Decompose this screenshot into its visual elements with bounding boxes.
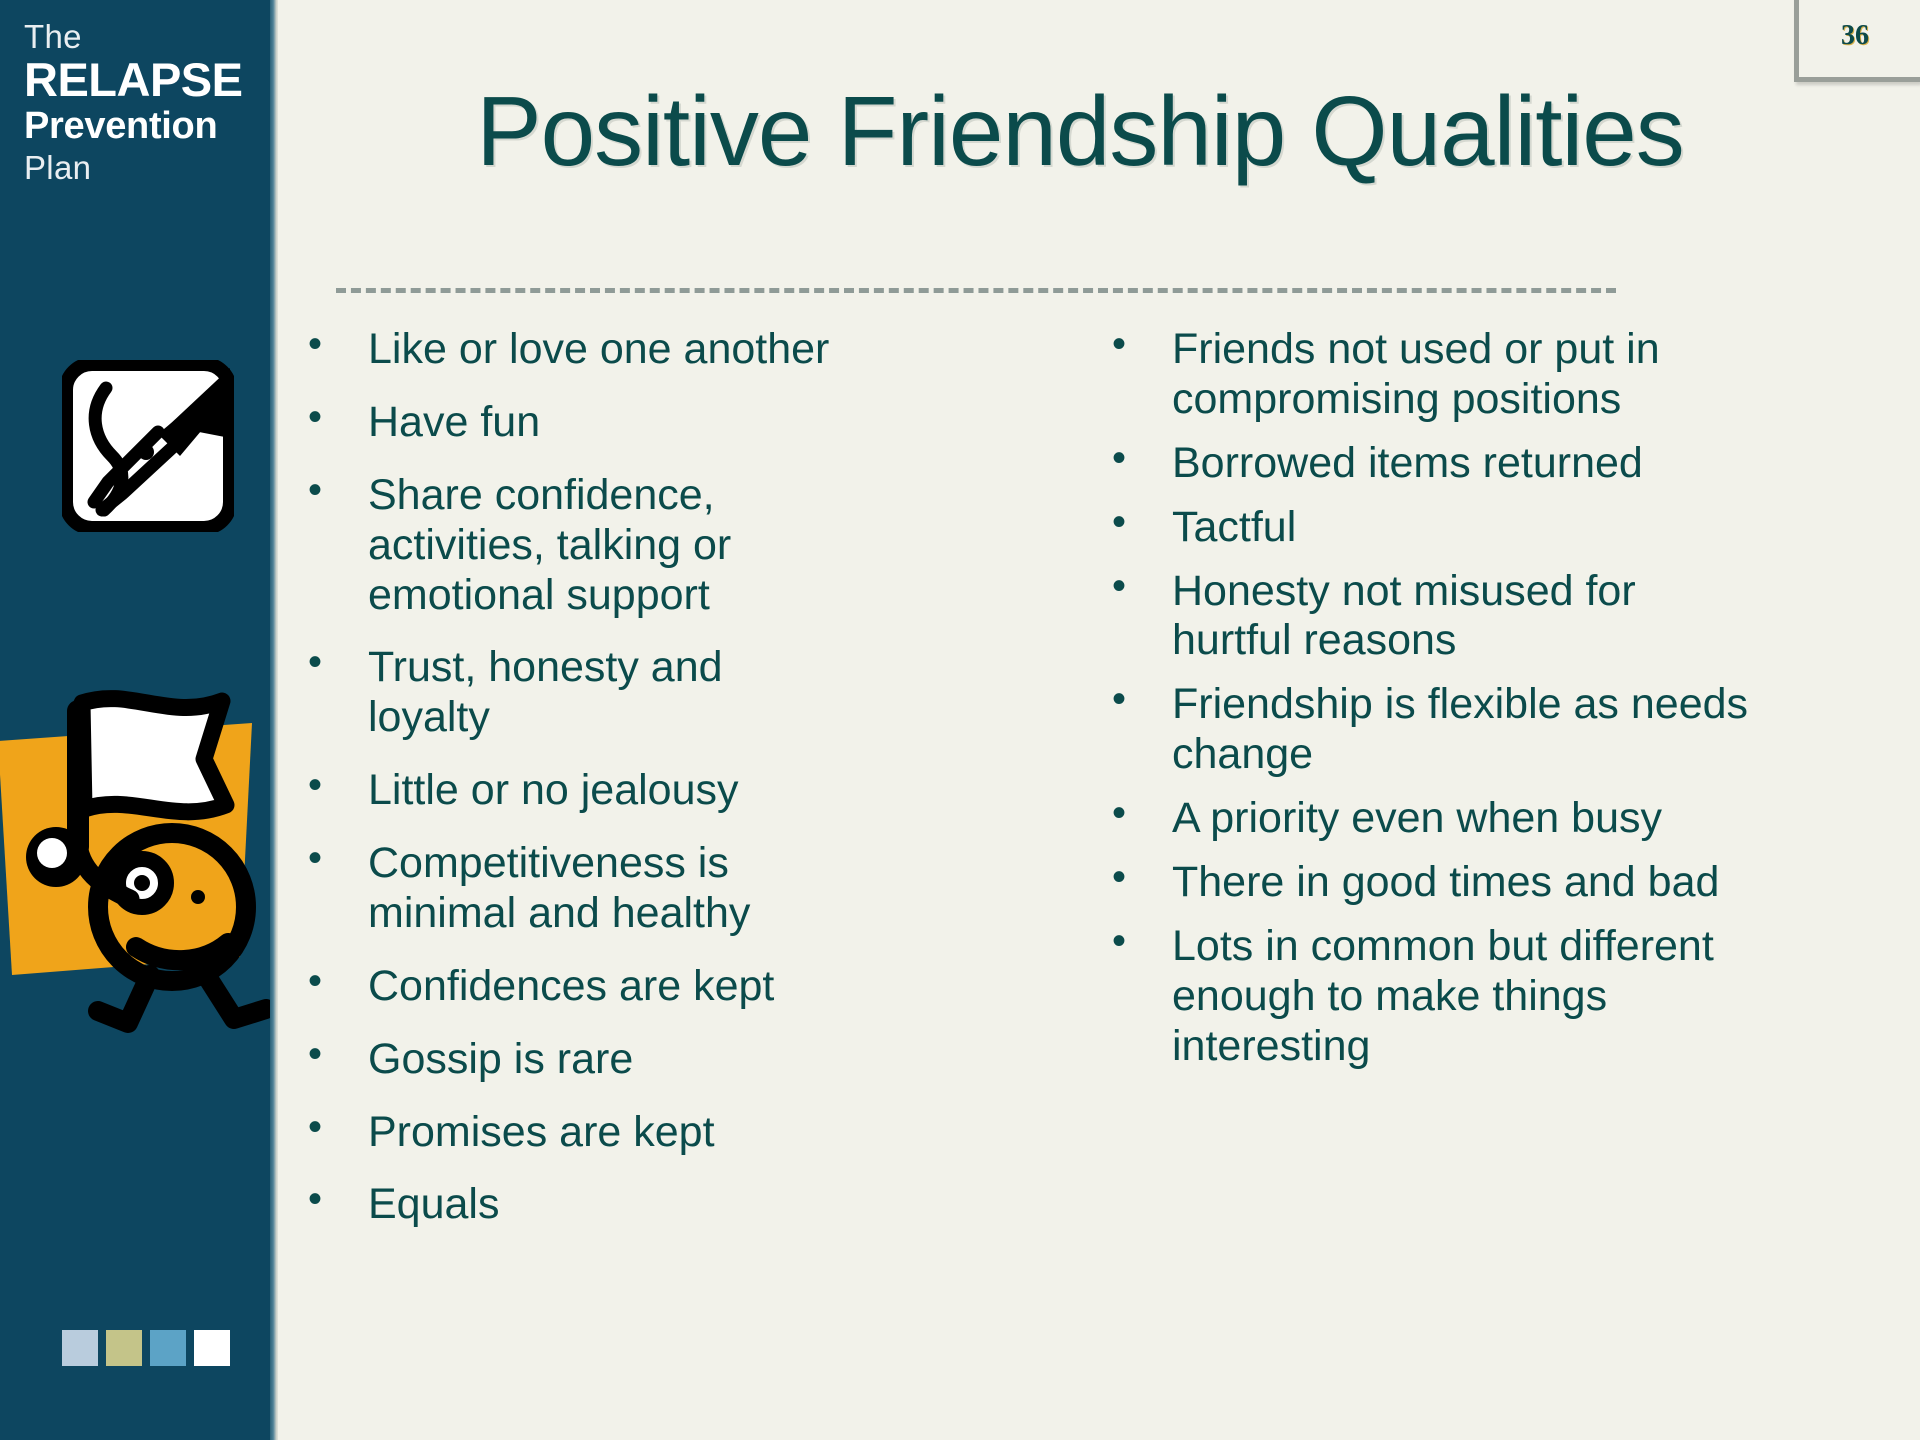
list-item: Trust, honesty and loyalty <box>296 643 836 743</box>
list-item: Share confidence, activities, talking or… <box>296 471 836 621</box>
list-item: Borrowed items returned <box>1100 439 1760 489</box>
page-number: 36 <box>1841 20 1869 52</box>
list-item: Promises are kept <box>296 1108 836 1158</box>
dashed-divider <box>336 288 1616 293</box>
list-item: Little or no jealousy <box>296 766 836 816</box>
color-swatch-strip <box>62 1330 230 1366</box>
list-item: Competitiveness is minimal and healthy <box>296 839 836 939</box>
list-item: Lots in common but different enough to m… <box>1100 922 1760 1072</box>
list-item: Equals <box>296 1180 836 1230</box>
sidebar-edge <box>270 0 278 1440</box>
list-item: Gossip is rare <box>296 1035 836 1085</box>
page-number-badge: 36 <box>1794 0 1920 82</box>
logo-line-the: The <box>24 20 264 55</box>
list-item: Honesty not misused for hurtful reasons <box>1100 567 1760 667</box>
left-bullet-column: Like or love one another Have fun Share … <box>296 325 836 1253</box>
list-item: Have fun <box>296 398 836 448</box>
slide-canvas: The RELAPSE Prevention Plan <box>0 0 1920 1440</box>
list-item: There in good times and bad <box>1100 858 1760 908</box>
left-bullet-list: Like or love one another Have fun Share … <box>296 325 836 1230</box>
list-item: Friends not used or put in compromising … <box>1100 325 1760 425</box>
list-item: Like or love one another <box>296 325 836 375</box>
running-figure-with-flag-icon <box>0 675 278 1035</box>
list-item: Tactful <box>1100 503 1760 553</box>
list-item: Confidences are kept <box>296 962 836 1012</box>
swatch-blue <box>150 1330 186 1366</box>
swatch-olive <box>106 1330 142 1366</box>
list-item: A priority even when busy <box>1100 794 1760 844</box>
right-bullet-list: Friends not used or put in compromising … <box>1100 325 1760 1071</box>
swatch-light-blue <box>62 1330 98 1366</box>
logo-line-relapse: RELAPSE <box>24 55 264 106</box>
list-item: Friendship is flexible as needs change <box>1100 680 1760 780</box>
brand-logo: The RELAPSE Prevention Plan <box>24 20 264 186</box>
logo-line-prevention: Prevention <box>24 105 264 148</box>
logo-line-plan: Plan <box>24 150 264 186</box>
swatch-white <box>194 1330 230 1366</box>
page-title: Positive Friendship Qualities <box>300 82 1860 180</box>
right-bullet-column: Friends not used or put in compromising … <box>1100 325 1760 1085</box>
pen-nib-icon <box>62 360 234 532</box>
sidebar: The RELAPSE Prevention Plan <box>0 0 278 1440</box>
